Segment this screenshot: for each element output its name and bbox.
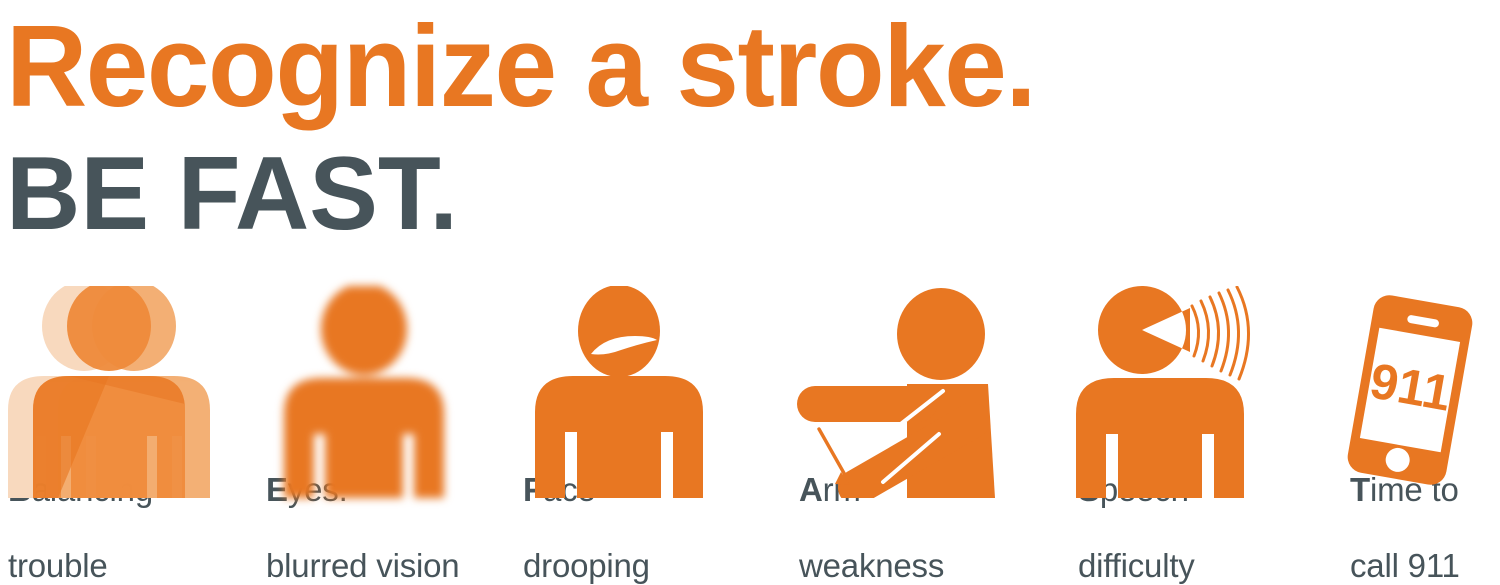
phone-911-icon: 911 bbox=[1338, 286, 1488, 498]
symptom-item-speech: Speech difficulty bbox=[1068, 286, 1338, 585]
caption-line2-e: blurred vision bbox=[266, 547, 459, 584]
caption-line2-s: difficulty bbox=[1078, 547, 1195, 584]
caption-line2-t: call 911 bbox=[1350, 547, 1460, 584]
icon-wrap-arm bbox=[783, 286, 1068, 429]
sound-waves-icon bbox=[1192, 287, 1249, 379]
person-blurred-icon bbox=[256, 286, 486, 498]
arm-drop-arrow-icon bbox=[819, 429, 850, 485]
icon-wrap-face bbox=[511, 286, 783, 429]
icon-wrap-balancing bbox=[0, 286, 256, 429]
person-face-drooping-icon bbox=[511, 286, 761, 498]
icon-wrap-eyes bbox=[256, 286, 511, 429]
headline-block: Recognize a stroke. BE FAST. bbox=[6, 0, 1486, 246]
caption-line2-f: drooping bbox=[523, 547, 650, 584]
symptom-item-balancing: Balancing trouble bbox=[0, 286, 256, 585]
symptom-item-arm: Arm weakness bbox=[783, 286, 1068, 585]
symptom-item-eyes: Eyes: blurred vision bbox=[256, 286, 511, 585]
caption-line2-b: trouble bbox=[8, 547, 108, 584]
caption-line2-a: weakness bbox=[799, 547, 944, 584]
person-arm-weakness-icon bbox=[783, 286, 1048, 498]
stroke-awareness-poster: Recognize a stroke. BE FAST. bbox=[0, 0, 1500, 585]
icon-wrap-phone: 911 bbox=[1338, 286, 1500, 429]
symptom-icon-row: Balancing trouble Eyes: blurred vision bbox=[0, 286, 1500, 585]
person-speech-difficulty-icon bbox=[1068, 286, 1323, 498]
symptom-item-face: Face drooping bbox=[511, 286, 783, 585]
person-balance-trouble-icon bbox=[0, 286, 250, 498]
icon-wrap-speech bbox=[1068, 286, 1338, 429]
symptom-item-time: 911 Time to call 911 bbox=[1338, 286, 1500, 585]
page-subtitle: BE FAST. bbox=[6, 124, 1471, 246]
page-title: Recognize a stroke. bbox=[6, 0, 1442, 124]
